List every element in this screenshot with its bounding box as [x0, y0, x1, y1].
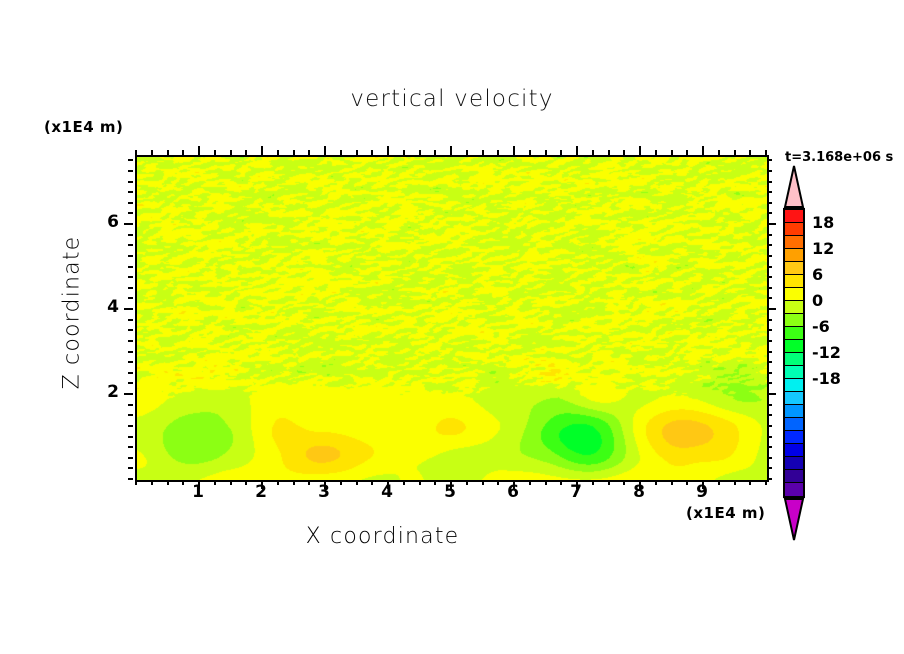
- y-tick-minor: [767, 223, 776, 225]
- y-tick-minor: [767, 457, 772, 459]
- y-tick-minor: [767, 212, 772, 214]
- colorbar-band: [785, 210, 803, 223]
- x-tick-minor: [623, 150, 625, 155]
- x-tick-label: 1: [178, 482, 218, 502]
- y-tick-minor: [128, 170, 133, 172]
- x-tick-minor: [403, 150, 405, 155]
- y-tick-minor: [128, 244, 133, 246]
- colorbar-bottom-arrow: [783, 498, 805, 542]
- x-tick-label: 3: [304, 482, 344, 502]
- x-tick-minor: [214, 150, 216, 155]
- y-tick-label: 6: [79, 212, 119, 232]
- y-tick-minor: [128, 351, 133, 353]
- x-tick-minor: [592, 150, 594, 155]
- x-tick-minor: [608, 150, 610, 155]
- x-tick-label: 6: [493, 482, 533, 502]
- colorbar-band: [785, 301, 803, 314]
- y-tick-minor: [767, 414, 772, 416]
- y-tick-label: 4: [79, 297, 119, 317]
- colorbar-tick-label: 6: [812, 265, 823, 284]
- x-tick-minor: [749, 150, 751, 155]
- y-tick-minor: [128, 287, 133, 289]
- y-tick-minor: [767, 276, 772, 278]
- y-tick-minor: [767, 234, 772, 236]
- y-tick-minor: [767, 425, 772, 427]
- y-tick-minor: [128, 329, 133, 331]
- y-tick-minor: [767, 297, 772, 299]
- y-tick-minor: [128, 181, 133, 183]
- colorbar-band: [785, 483, 803, 496]
- x-tick-minor: [261, 146, 263, 155]
- x-tick-minor: [135, 150, 137, 155]
- y-tick-minor: [128, 478, 133, 480]
- x-tick-minor: [545, 480, 547, 485]
- colorbar-bands: [783, 208, 805, 498]
- y-tick-minor: [767, 287, 772, 289]
- colorbar-band: [785, 340, 803, 353]
- x-tick-minor: [230, 150, 232, 155]
- x-tick-label: 7: [556, 482, 596, 502]
- x-tick-label: 5: [430, 482, 470, 502]
- x-tick-minor: [293, 480, 295, 485]
- x-tick-minor: [277, 150, 279, 155]
- y-tick-minor: [128, 202, 133, 204]
- x-tick-minor: [230, 480, 232, 485]
- y-tick-minor: [128, 234, 133, 236]
- x-tick-minor: [639, 146, 641, 155]
- colorbar-tick-label: -18: [812, 369, 841, 388]
- colorbar-band: [785, 223, 803, 236]
- y-tick-minor: [128, 319, 133, 321]
- x-tick-minor: [324, 146, 326, 155]
- y-tick-minor: [128, 159, 133, 161]
- x-tick-minor: [702, 146, 704, 155]
- y-tick-minor: [767, 244, 772, 246]
- y-tick-minor: [767, 393, 776, 395]
- x-tick-minor: [497, 150, 499, 155]
- x-tick-minor: [198, 146, 200, 155]
- colorbar-band: [785, 262, 803, 275]
- x-tick-minor: [135, 480, 137, 485]
- x-tick-minor: [167, 150, 169, 155]
- y-tick-minor: [128, 457, 133, 459]
- y-tick-minor: [128, 212, 133, 214]
- y-tick-label: 2: [79, 382, 119, 402]
- x-tick-minor: [545, 150, 547, 155]
- colorbar: [783, 208, 805, 498]
- x-tick-minor: [718, 150, 720, 155]
- timestamp-annotation: t=3.168e+06 s: [785, 150, 893, 165]
- y-tick-minor: [124, 223, 133, 225]
- y-tick-minor: [767, 255, 772, 257]
- y-tick-minor: [128, 276, 133, 278]
- y-tick-minor: [767, 159, 772, 161]
- x-tick-minor: [765, 150, 767, 155]
- x-tick-label: 2: [241, 482, 281, 502]
- x-tick-minor: [151, 150, 153, 155]
- contour-field: [137, 157, 767, 480]
- x-tick-minor: [167, 480, 169, 485]
- x-tick-minor: [482, 480, 484, 485]
- y-tick-minor: [767, 382, 772, 384]
- x-tick-minor: [513, 146, 515, 155]
- x-tick-minor: [765, 480, 767, 485]
- x-tick-minor: [308, 150, 310, 155]
- colorbar-band: [785, 327, 803, 340]
- y-tick-minor: [128, 414, 133, 416]
- x-tick-minor: [608, 480, 610, 485]
- contour-plot-area: [135, 155, 769, 482]
- colorbar-tick-label: 12: [812, 239, 834, 258]
- x-axis-title: X coordinate: [0, 524, 765, 549]
- colorbar-band: [785, 457, 803, 470]
- x-tick-minor: [686, 150, 688, 155]
- y-tick-minor: [128, 340, 133, 342]
- x-tick-minor: [419, 150, 421, 155]
- y-axis-unit-label: (x1E4 m): [44, 118, 123, 136]
- y-tick-minor: [128, 255, 133, 257]
- colorbar-tick-label: 18: [812, 213, 834, 232]
- x-tick-label: 4: [367, 482, 407, 502]
- y-tick-minor: [767, 404, 772, 406]
- y-tick-minor: [767, 181, 772, 183]
- x-tick-minor: [749, 480, 751, 485]
- x-tick-minor: [671, 480, 673, 485]
- y-tick-minor: [128, 425, 133, 427]
- y-tick-minor: [767, 308, 776, 310]
- x-tick-minor: [182, 150, 184, 155]
- x-tick-minor: [387, 146, 389, 155]
- y-tick-minor: [128, 372, 133, 374]
- colorbar-band: [785, 288, 803, 301]
- y-tick-minor: [124, 308, 133, 310]
- x-tick-minor: [371, 150, 373, 155]
- x-tick-minor: [482, 150, 484, 155]
- x-tick-minor: [734, 150, 736, 155]
- y-tick-minor: [767, 340, 772, 342]
- x-tick-minor: [466, 150, 468, 155]
- colorbar-tick-label: 0: [812, 291, 823, 310]
- y-tick-minor: [128, 404, 133, 406]
- x-tick-label: 8: [619, 482, 659, 502]
- x-tick-minor: [151, 480, 153, 485]
- y-tick-minor: [767, 446, 772, 448]
- colorbar-band: [785, 314, 803, 327]
- y-tick-minor: [767, 191, 772, 193]
- x-tick-minor: [560, 150, 562, 155]
- colorbar-band: [785, 405, 803, 418]
- y-tick-minor: [767, 319, 772, 321]
- y-tick-minor: [128, 297, 133, 299]
- y-tick-minor: [128, 361, 133, 363]
- x-tick-minor: [245, 150, 247, 155]
- colorbar-band: [785, 366, 803, 379]
- x-tick-minor: [671, 150, 673, 155]
- x-tick-minor: [356, 150, 358, 155]
- y-tick-minor: [767, 202, 772, 204]
- y-tick-minor: [128, 191, 133, 193]
- y-tick-minor: [128, 382, 133, 384]
- x-tick-minor: [655, 150, 657, 155]
- x-tick-minor: [529, 150, 531, 155]
- x-axis-unit-label: (x1E4 m): [686, 504, 765, 522]
- colorbar-band: [785, 236, 803, 249]
- colorbar-tick-label: -12: [812, 343, 841, 362]
- colorbar-band: [785, 431, 803, 444]
- y-tick-minor: [128, 467, 133, 469]
- x-tick-minor: [356, 480, 358, 485]
- figure-canvas: vertical velocity (x1E4 m) t=3.168e+06 s…: [0, 0, 904, 654]
- colorbar-tick-label: -6: [812, 317, 830, 336]
- y-tick-minor: [767, 372, 772, 374]
- x-tick-minor: [734, 480, 736, 485]
- y-tick-minor: [767, 436, 772, 438]
- colorbar-band: [785, 379, 803, 392]
- y-tick-minor: [767, 478, 772, 480]
- y-tick-minor: [128, 446, 133, 448]
- colorbar-band: [785, 470, 803, 483]
- colorbar-top-arrow: [783, 164, 805, 208]
- y-tick-minor: [767, 467, 772, 469]
- x-tick-minor: [419, 480, 421, 485]
- colorbar-band: [785, 444, 803, 457]
- x-tick-minor: [434, 150, 436, 155]
- y-tick-minor: [767, 170, 772, 172]
- page-title: vertical velocity: [0, 86, 904, 112]
- colorbar-band: [785, 392, 803, 405]
- colorbar-band: [785, 249, 803, 262]
- x-tick-minor: [340, 150, 342, 155]
- y-tick-minor: [128, 436, 133, 438]
- x-tick-minor: [293, 150, 295, 155]
- y-tick-minor: [767, 329, 772, 331]
- y-tick-minor: [767, 351, 772, 353]
- x-tick-label: 9: [682, 482, 722, 502]
- colorbar-band: [785, 275, 803, 288]
- y-tick-minor: [128, 266, 133, 268]
- colorbar-band: [785, 353, 803, 366]
- x-tick-minor: [576, 146, 578, 155]
- y-tick-minor: [124, 393, 133, 395]
- x-tick-minor: [450, 146, 452, 155]
- y-tick-minor: [767, 361, 772, 363]
- colorbar-band: [785, 418, 803, 431]
- y-tick-minor: [767, 266, 772, 268]
